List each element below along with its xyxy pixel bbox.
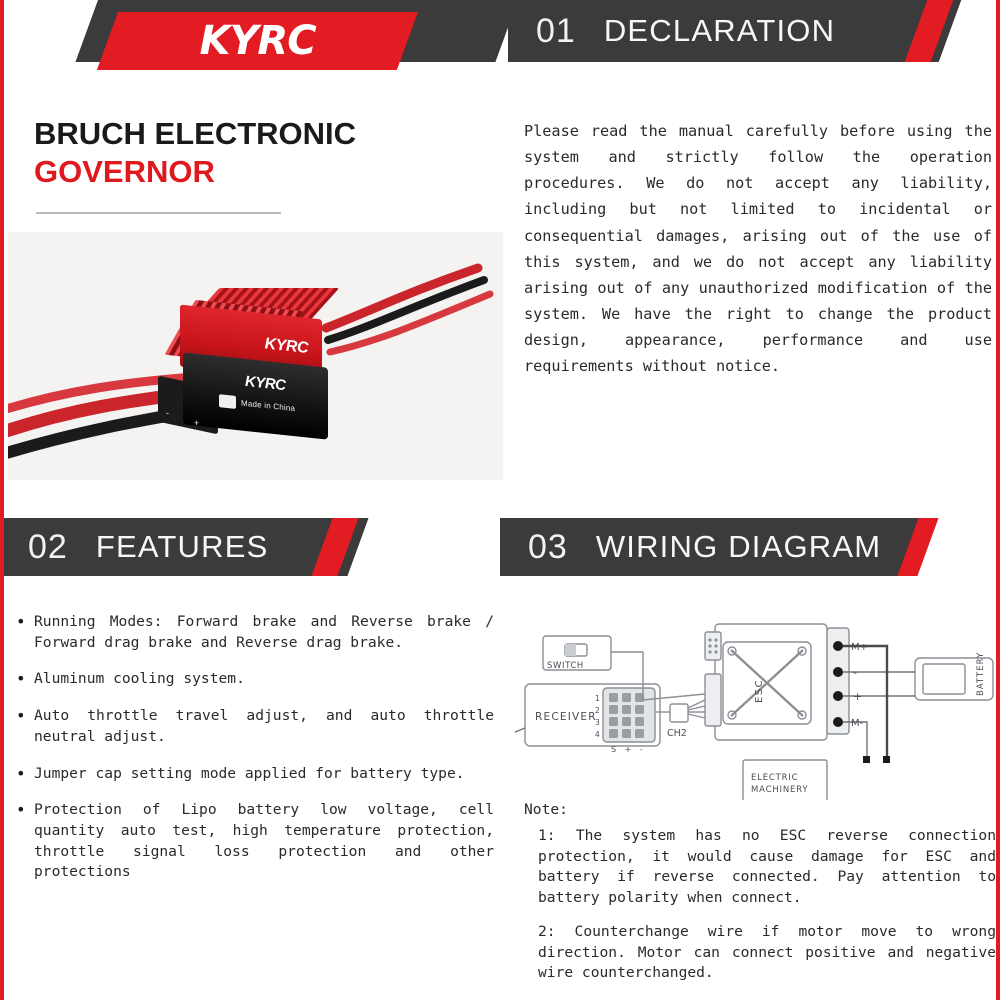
label-receiver: RECEIVER: [535, 711, 597, 723]
heatsink-brand-text: KYRC: [265, 335, 308, 358]
label-terminal-minus: -: [853, 666, 857, 679]
frame-accent-left-top: [0, 0, 4, 500]
feature-item: Running Modes: Forward brake and Reverse…: [14, 612, 494, 653]
terminal-label-minus: -: [166, 408, 169, 418]
title-divider: [36, 212, 281, 214]
manual-page: KYRC 01 DECLARATION BRUCH ELECTRONIC GOV…: [0, 0, 1000, 1000]
frame-accent-left-bottom: [0, 500, 4, 1000]
section-header-declaration: 01 DECLARATION: [508, 0, 1000, 62]
label-motor-line2: MACHINERY: [751, 785, 808, 795]
section-number-01: 01: [536, 12, 576, 51]
product-title-line1: BRUCH ELECTRONIC: [34, 116, 494, 152]
label-terminal-mplus: M+: [851, 642, 868, 653]
wiring-diagram: SWITCH RECEIVER 1 2 3 4 S + - CH2 M+ - +…: [515, 600, 995, 800]
frame-accent-right-bottom: [996, 500, 1000, 1000]
product-photo: KYRC KYRC Made in China - +: [8, 232, 503, 480]
logo-text: KYRC: [199, 18, 315, 64]
label-switch: SWITCH: [547, 661, 584, 671]
section-header-features: 02 FEATURES: [0, 518, 400, 576]
body-brand-text: KYRC: [245, 373, 286, 394]
product-title-line2: GOVERNOR: [34, 152, 494, 192]
label-ch2: CH2: [667, 728, 687, 739]
terminal-label-plus: +: [194, 418, 199, 428]
label-terminal-mminus: M-: [851, 718, 864, 729]
features-list: Running Modes: Forward brake and Reverse…: [14, 612, 494, 899]
section-title-features: FEATURES: [96, 529, 269, 565]
note-item: 1: The system has no ESC reverse connect…: [524, 826, 996, 908]
label-ch-4: 4: [595, 730, 600, 739]
label-esc: ESC: [754, 679, 765, 703]
label-pin-row: S + -: [611, 745, 646, 754]
ch2-plug: [670, 704, 688, 722]
section-title-wiring: WIRING DIAGRAM: [596, 529, 881, 565]
brand-logo: KYRC: [0, 0, 508, 92]
label-ch-3: 3: [595, 718, 600, 727]
label-ch-1: 1: [595, 694, 600, 703]
declaration-body: Please read the manual carefully before …: [524, 118, 992, 379]
origin-badge-icon: [219, 394, 236, 409]
esc-main-body: KYRC Made in China: [183, 352, 328, 439]
frame-accent-right-top: [996, 0, 1000, 500]
section-title-declaration: DECLARATION: [604, 13, 835, 49]
feature-item: Auto throttle travel adjust, and auto th…: [14, 706, 494, 747]
label-ch-2: 2: [595, 706, 600, 715]
logo-red-shape: KYRC: [97, 12, 418, 70]
section-number-03: 03: [528, 528, 568, 567]
label-battery: BATTERY: [976, 652, 986, 696]
feature-item: Jumper cap setting mode applied for batt…: [14, 764, 494, 785]
product-title: BRUCH ELECTRONIC GOVERNOR: [34, 116, 494, 192]
notes-block: Note: 1: The system has no ESC reverse c…: [524, 800, 996, 997]
section-header-wiring: 03 WIRING DIAGRAM: [500, 518, 970, 576]
notes-label: Note:: [524, 800, 996, 820]
origin-text: Made in China: [241, 398, 295, 413]
feature-item: Aluminum cooling system.: [14, 669, 494, 690]
feature-item: Protection of Lipo battery low voltage, …: [14, 800, 494, 883]
note-item: 2: Counterchange wire if motor move to w…: [524, 922, 996, 983]
label-terminal-plus: +: [853, 690, 862, 703]
label-motor-line1: ELECTRIC: [751, 773, 798, 783]
section-number-02: 02: [28, 528, 68, 567]
